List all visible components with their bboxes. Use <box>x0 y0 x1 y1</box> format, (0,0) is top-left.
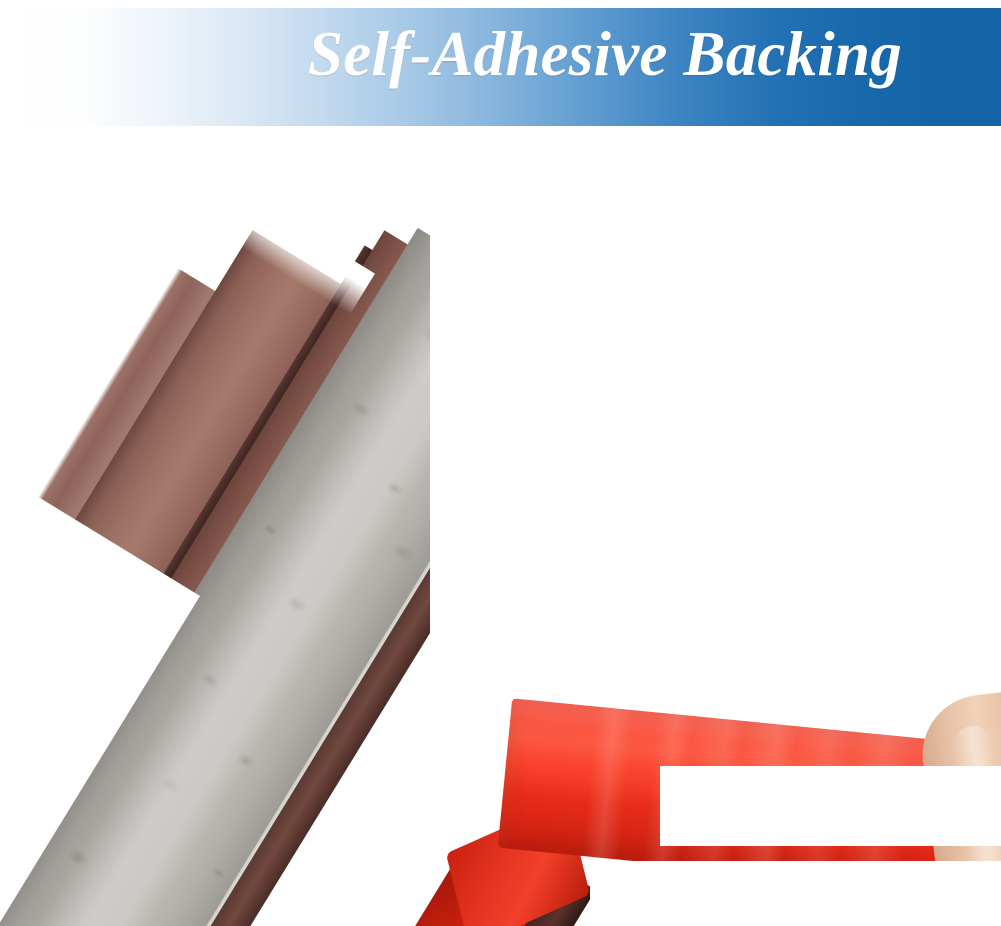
photo-mask-right-lower <box>660 766 1001 846</box>
page-title: Self-Adhesive Backing <box>308 22 998 86</box>
product-photo <box>0 126 1001 926</box>
header-banner: Self-Adhesive Backing <box>0 8 1001 126</box>
photo-mask-right-upper <box>430 126 1001 646</box>
photo-mask-bottom-wedge <box>590 861 1001 926</box>
product-infographic: Self-Adhesive Backing The flexible floor… <box>0 0 1001 926</box>
